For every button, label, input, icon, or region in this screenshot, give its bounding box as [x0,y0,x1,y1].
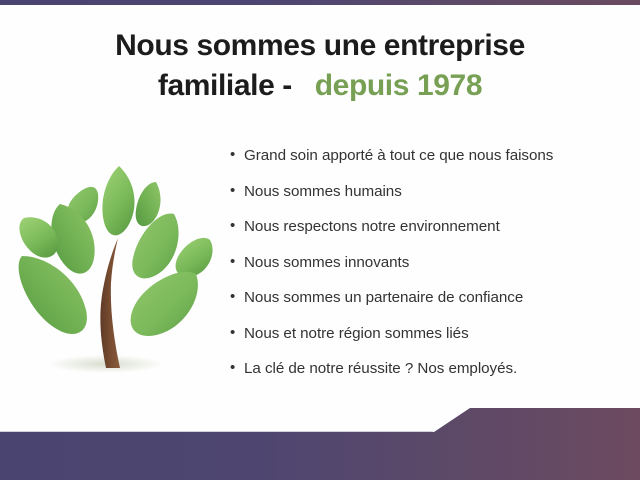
list-item-label: Nous sommes humains [244,183,402,200]
bullet-marker-icon: • [230,289,244,304]
bullet-marker-icon: • [230,218,244,233]
tree-trunk [100,238,120,368]
page-title: Nous sommes une entreprise familiale - d… [0,26,640,105]
footer-bar: tabor-automobiles.fr [0,404,640,480]
list-item: • Nous et notre région sommes liés [230,325,630,361]
bullet-marker-icon: • [230,183,244,198]
title-line-2-plain: familiale - [158,69,292,102]
title-line-2: familiale - depuis 1978 [0,66,640,106]
bullet-marker-icon: • [230,325,244,340]
slide-canvas: Nous sommes une entreprise familiale - d… [0,0,640,480]
list-item-label: Grand soin apporté à tout ce que nous fa… [244,147,553,164]
list-item: • Nous sommes innovants [230,254,630,290]
list-item-label: Nous sommes innovants [244,254,409,271]
top-accent-strip [0,0,640,5]
list-item: • Grand soin apporté à tout ce que nous … [230,147,630,183]
list-item-label: La clé de notre réussite ? Nos employés. [244,360,517,377]
tree-illustration [14,152,222,387]
list-item-label: Nous et notre région sommes liés [244,325,469,342]
list-item: • La clé de notre réussite ? Nos employé… [230,360,630,396]
title-line-1: Nous sommes une entreprise [0,26,640,66]
title-accent-since-1978: depuis 1978 [315,69,482,102]
list-item-label: Nous respectons notre environnement [244,218,500,235]
bullet-marker-icon: • [230,254,244,269]
tree-leaf-group [19,166,213,336]
footer-shape [0,408,640,480]
list-item: • Nous sommes humains [230,183,630,219]
list-item-label: Nous sommes un partenaire de confiance [244,289,523,306]
list-item: • Nous sommes un partenaire de confiance [230,289,630,325]
list-item: • Nous respectons notre environnement [230,218,630,254]
bullet-marker-icon: • [230,147,244,162]
bullet-marker-icon: • [230,360,244,375]
leaf-mid-right [176,238,213,277]
leaf-lower-right [131,272,198,336]
leaf-top-center [102,166,134,235]
benefits-list: • Grand soin apporté à tout ce que nous … [230,147,630,396]
